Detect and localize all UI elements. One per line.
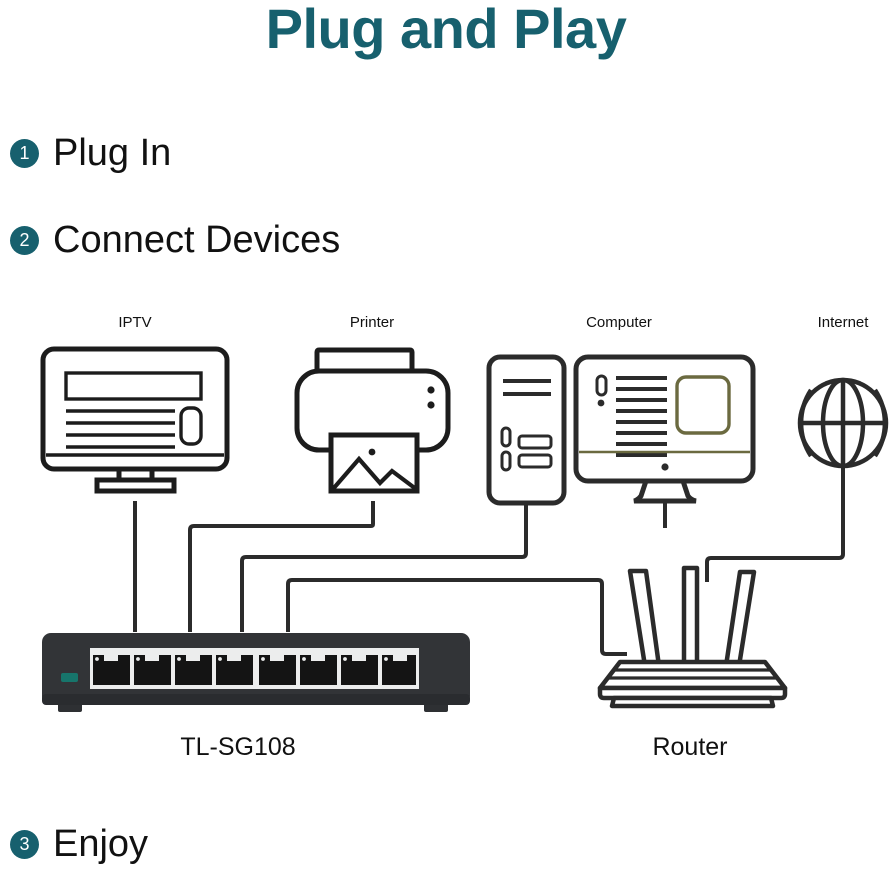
step-number-badge-3: 3 [10, 830, 39, 859]
plug-and-play-diagram: Plug and Play 1 Plug In 2 Connect Device… [0, 0, 892, 875]
device-label-internet: Internet [783, 314, 892, 332]
step-label-1: Plug In [53, 131, 171, 175]
cable-computer-tower [242, 505, 526, 630]
step-label-2: Connect Devices [53, 218, 340, 262]
step-label-3: Enjoy [53, 822, 148, 866]
globe-icon [800, 380, 886, 466]
device-label-printer: Printer [312, 314, 432, 332]
network-switch-icon [42, 633, 470, 712]
step-item-1: 1 Plug In [10, 131, 171, 175]
printer-icon [297, 350, 448, 491]
router-foot [612, 698, 773, 706]
step-item-3: 3 Enjoy [10, 822, 148, 866]
device-label-switch: TL-SG108 [118, 732, 358, 762]
computer-tower-icon [489, 357, 564, 503]
router-body [600, 662, 785, 688]
wireless-router-icon [600, 568, 785, 706]
router-antenna-middle [684, 568, 697, 666]
cable-internet [707, 470, 843, 580]
step-number-badge-1: 1 [10, 139, 39, 168]
router-antenna-left [630, 571, 659, 666]
device-label-iptv: IPTV [75, 314, 195, 332]
television-icon [43, 349, 227, 491]
cable-printer [190, 503, 373, 630]
page-title: Plug and Play [0, 0, 892, 62]
device-label-computer: Computer [559, 314, 679, 332]
step-number-badge-2: 2 [10, 226, 39, 255]
switch-status-led [61, 673, 78, 682]
device-label-router: Router [570, 732, 810, 762]
step-item-2: 2 Connect Devices [10, 218, 340, 262]
computer-monitor-icon [576, 357, 753, 501]
router-antenna-right [726, 572, 754, 666]
